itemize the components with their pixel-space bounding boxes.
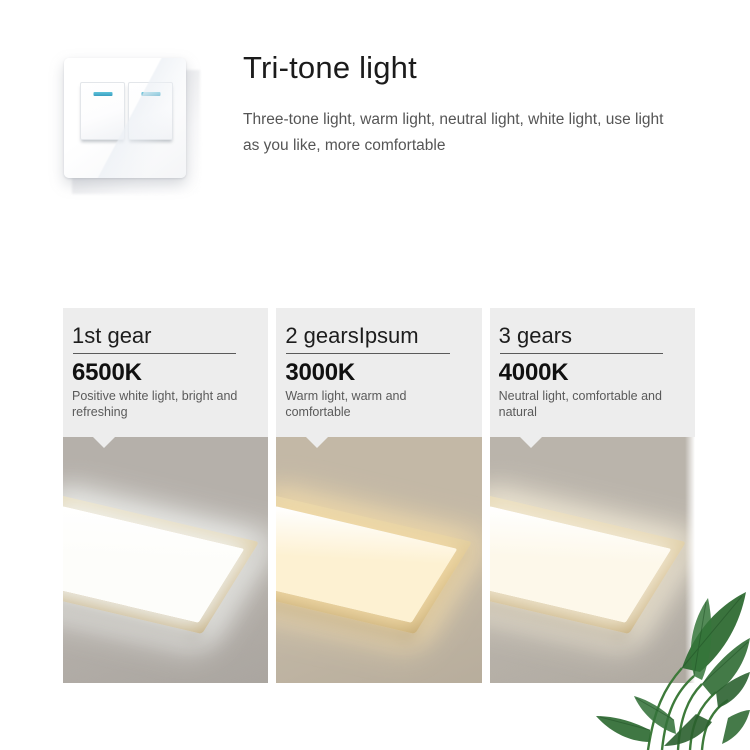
divider	[286, 353, 449, 354]
plant-leaves	[596, 592, 750, 746]
page-subtitle: Three-tone light, warm light, neutral li…	[243, 107, 683, 159]
gear-description: Positive white light, bright and refresh…	[72, 388, 254, 420]
pointer-notch-icon	[306, 437, 328, 448]
lamp-photo	[276, 437, 481, 683]
led-indicator-icon	[93, 92, 112, 96]
gear-panel: 2 gearsIpsum 3000K Warm light, warm and …	[276, 308, 481, 683]
ceiling-lamp	[63, 495, 268, 591]
gear-label: 3 gears	[499, 322, 681, 349]
gear-description: Neutral light, comfortable and natural	[499, 388, 681, 420]
gear-panel-header: 1st gear 6500K Positive white light, bri…	[63, 308, 268, 437]
gear-label: 1st gear	[72, 322, 254, 349]
switch-rocker-right[interactable]	[128, 82, 173, 140]
divider	[73, 353, 236, 354]
lamp-photo	[63, 437, 268, 683]
gear-panel-header: 2 gearsIpsum 3000K Warm light, warm and …	[276, 308, 481, 437]
gear-panel: 1st gear 6500K Positive white light, bri…	[63, 308, 268, 683]
ceiling-lamp	[490, 495, 695, 591]
plant-decoration	[590, 580, 750, 750]
pointer-notch-icon	[520, 437, 542, 448]
gear-description: Warm light, warm and comfortable	[285, 388, 467, 420]
gear-panel-header: 3 gears 4000K Neutral light, comfortable…	[490, 308, 695, 437]
kelvin-value: 3000K	[285, 359, 467, 386]
kelvin-value: 4000K	[499, 359, 681, 386]
switch-rocker-left[interactable]	[80, 82, 125, 140]
pointer-notch-icon	[93, 437, 115, 448]
hero-section: Tri-tone light Three-tone light, warm li…	[0, 0, 750, 280]
gear-label: 2 gearsIpsum	[285, 322, 467, 349]
led-indicator-icon	[141, 92, 160, 96]
divider	[500, 353, 663, 354]
page-title: Tri-tone light	[243, 50, 417, 86]
wall-switch-illustration	[58, 52, 208, 192]
ceiling-lamp	[276, 495, 481, 591]
kelvin-value: 6500K	[72, 359, 254, 386]
